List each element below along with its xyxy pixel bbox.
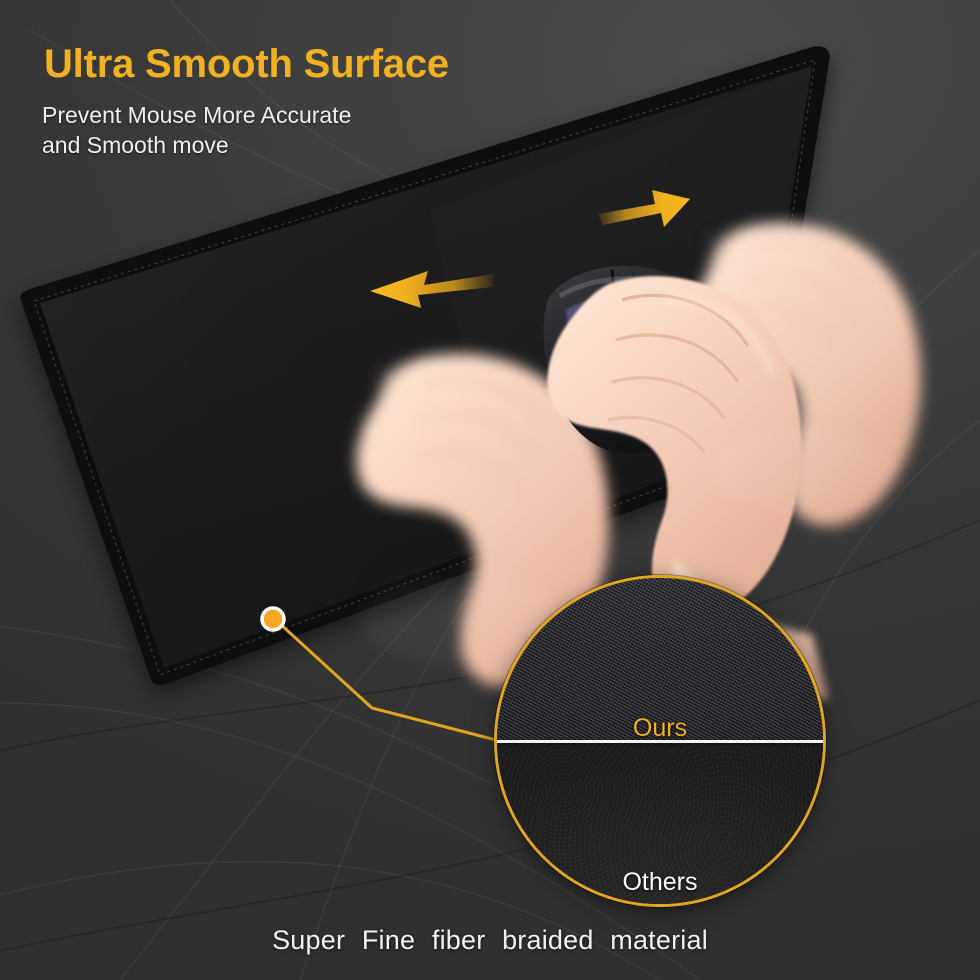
callout-marker-dot: [262, 608, 284, 630]
zoom-label-ours: Ours: [497, 716, 823, 741]
material-caption: Super Fine fiber braided material: [0, 925, 980, 956]
callout-leader-line: [278, 622, 500, 741]
zoom-label-others: Others: [497, 870, 823, 895]
product-feature-image: Ultra Smooth Surface Prevent Mouse More …: [0, 0, 980, 980]
callout-group: [0, 0, 980, 980]
material-zoom-circle: Ours Others: [494, 575, 826, 907]
